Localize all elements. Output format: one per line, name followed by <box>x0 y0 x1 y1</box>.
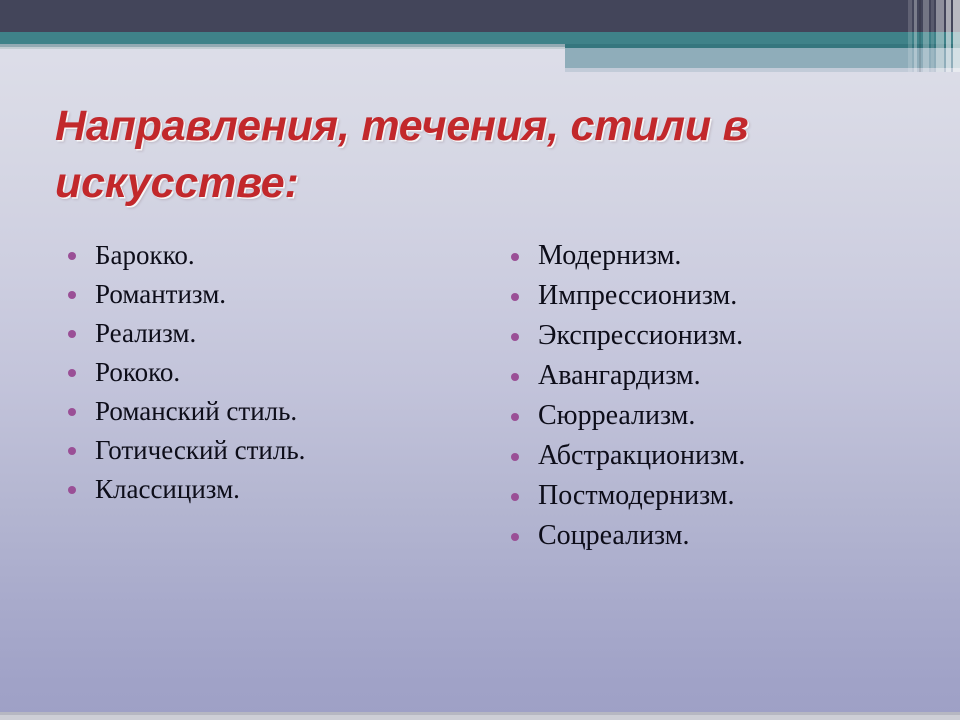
bullet-dot-icon <box>511 293 519 301</box>
banner-bluegrey-fade <box>565 68 960 72</box>
banner-stripe-3 <box>919 0 921 72</box>
list-item: Соцреализм. <box>505 516 935 556</box>
bullet-dot-icon <box>511 413 519 421</box>
bullet-dot-icon <box>511 453 519 461</box>
list-item: Рококо. <box>62 353 482 392</box>
slide-header-banner <box>0 0 960 72</box>
bullet-dot-icon <box>511 253 519 261</box>
banner-dark-band <box>0 0 960 32</box>
list-item: Барокко. <box>62 236 482 275</box>
slide-bottom-edge <box>0 715 960 720</box>
bullet-dot-icon <box>511 493 519 501</box>
list-item: Абстракционизм. <box>505 436 935 476</box>
left-column-list: Барокко.Романтизм.Реализм.Рококо.Романск… <box>62 236 482 509</box>
list-item-label: Авангардизм. <box>538 360 701 391</box>
banner-teal-band <box>0 32 960 44</box>
banner-stripe-4 <box>923 0 929 72</box>
banner-bluegrey-band <box>565 48 960 68</box>
list-item: Готический стиль. <box>62 431 482 470</box>
bullet-dot-icon <box>68 408 76 416</box>
slide-title: Направления, течения, стили в искусстве: <box>55 98 755 212</box>
bullet-dot-icon <box>68 291 76 299</box>
banner-stripe-7 <box>946 0 951 72</box>
bullet-dot-icon <box>68 486 76 494</box>
banner-stripe-6 <box>936 0 944 72</box>
bullet-dot-icon <box>511 333 519 341</box>
list-item-label: Рококо. <box>95 357 180 387</box>
banner-hairline-lower <box>0 47 565 49</box>
list-item: Модернизм. <box>505 236 935 276</box>
bullet-dot-icon <box>68 330 76 338</box>
list-item-label: Романтизм. <box>95 279 226 309</box>
bullet-dot-icon <box>511 373 519 381</box>
list-item: Реализм. <box>62 314 482 353</box>
list-item-label: Соцреализм. <box>538 520 689 551</box>
list-item-label: Модернизм. <box>538 240 681 271</box>
list-item: Экспрессионизм. <box>505 316 935 356</box>
bullet-dot-icon <box>68 447 76 455</box>
list-item-label: Сюрреализм. <box>538 400 695 431</box>
banner-stripe-1 <box>908 0 912 72</box>
list-item: Импрессионизм. <box>505 276 935 316</box>
list-item: Сюрреализм. <box>505 396 935 436</box>
list-item: Классицизм. <box>62 470 482 509</box>
presentation-slide: Направления, течения, стили в искусстве:… <box>0 0 960 720</box>
banner-stripe-5 <box>931 0 934 72</box>
bullet-dot-icon <box>511 533 519 541</box>
list-item: Авангардизм. <box>505 356 935 396</box>
list-item-label: Готический стиль. <box>95 435 305 465</box>
right-column-list: Модернизм.Импрессионизм.Экспрессионизм.А… <box>505 236 935 556</box>
list-item-label: Романский стиль. <box>95 396 297 426</box>
bullet-dot-icon <box>68 369 76 377</box>
list-item-label: Реализм. <box>95 318 196 348</box>
left-column: Барокко.Романтизм.Реализм.Рококо.Романск… <box>62 236 482 509</box>
list-item: Романский стиль. <box>62 392 482 431</box>
banner-stripe-8 <box>953 0 960 72</box>
bullet-dot-icon <box>68 252 76 260</box>
list-item-label: Импрессионизм. <box>538 280 737 311</box>
banner-vertical-stripes <box>908 0 960 72</box>
list-item-label: Экспрессионизм. <box>538 320 743 351</box>
right-column: Модернизм.Импрессионизм.Экспрессионизм.А… <box>505 236 935 556</box>
list-item: Романтизм. <box>62 275 482 314</box>
list-item-label: Классицизм. <box>95 474 240 504</box>
list-item: Постмодернизм. <box>505 476 935 516</box>
list-item-label: Постмодернизм. <box>538 480 735 511</box>
banner-stripe-2 <box>914 0 917 72</box>
list-item-label: Барокко. <box>95 240 195 270</box>
list-item-label: Абстракционизм. <box>538 440 745 471</box>
